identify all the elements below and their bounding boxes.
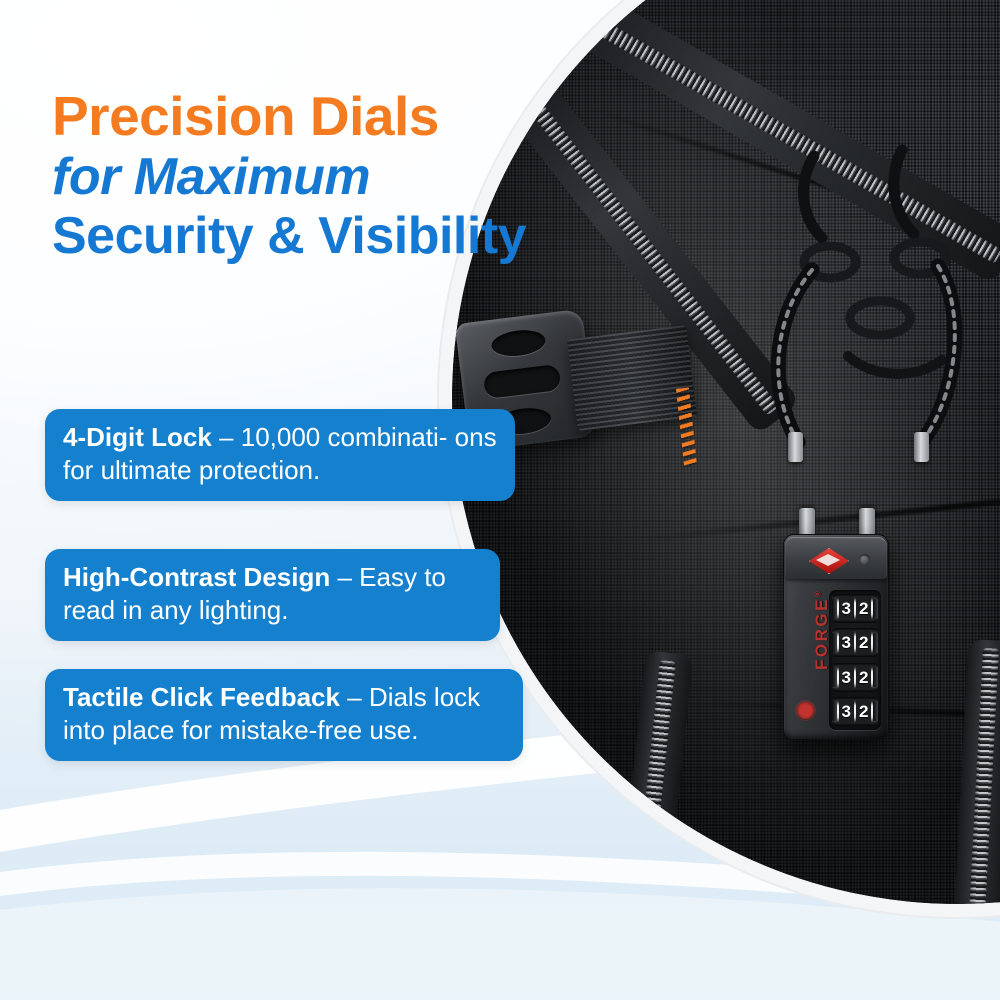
dial-edge-left xyxy=(832,667,837,687)
forge-gear-icon xyxy=(797,702,814,719)
combination-dials: 3 2 3 2 3 2 3 2 xyxy=(829,590,881,730)
dial-3-digit-right: 2 xyxy=(856,666,871,689)
dial-edge-left xyxy=(832,701,837,721)
dial-edge-right xyxy=(873,701,878,721)
dial-3[interactable]: 3 2 xyxy=(832,663,878,692)
tsa-padlock: FORGE® 3 2 3 2 3 2 3 xyxy=(783,534,889,740)
zipper-pulls-and-cable xyxy=(752,142,1000,472)
dial-1-digit-right: 2 xyxy=(856,597,871,620)
headline-line-2: for Maximum xyxy=(52,148,652,207)
promo-banner: FORGE® 3 2 3 2 3 2 3 xyxy=(0,0,1000,1000)
dial-2-digit-left: 3 xyxy=(839,631,854,654)
headline-line-1: Precision Dials xyxy=(52,86,652,148)
dial-4[interactable]: 3 2 xyxy=(832,697,878,726)
feature-2-title: High-Contrast Design xyxy=(63,562,330,592)
dial-2[interactable]: 3 2 xyxy=(832,628,878,657)
feature-2-body: Easy to xyxy=(359,562,446,592)
feature-3-title: Tactile Click Feedback xyxy=(63,682,340,712)
dial-4-digit-right: 2 xyxy=(856,700,871,723)
feature-2-dash: – xyxy=(337,562,351,592)
dial-edge-right xyxy=(873,633,878,653)
feature-pill-2: High-Contrast Design – Easy to read in a… xyxy=(45,549,500,641)
tsa-keyhole-icon xyxy=(859,554,870,565)
registered-mark: ® xyxy=(813,589,822,597)
dial-edge-right xyxy=(873,599,878,619)
headline-block: Precision Dials for Maximum Security & V… xyxy=(52,86,652,266)
cable-ferrule-left xyxy=(788,432,803,462)
feature-1-body: 10,000 combinati- xyxy=(241,422,448,452)
headline-line-3: Security & Visibility xyxy=(52,207,652,266)
dial-edge-left xyxy=(832,599,837,619)
feature-3-dash: – xyxy=(347,682,361,712)
dial-edge-right xyxy=(873,667,878,687)
feature-2-body2: read in any lighting. xyxy=(63,595,288,625)
feature-pill-1: 4-Digit Lock – 10,000 combinati- ons for… xyxy=(45,409,515,501)
dial-3-digit-left: 3 xyxy=(839,666,854,689)
strap-webbing xyxy=(567,325,697,431)
dial-1[interactable]: 3 2 xyxy=(832,594,878,623)
feature-3-body2: into place for mistake-free use. xyxy=(63,715,419,745)
dial-2-digit-right: 2 xyxy=(856,631,871,654)
cable-ferrule-right xyxy=(914,432,929,462)
dial-1-digit-left: 3 xyxy=(839,597,854,620)
feature-1-dash: – xyxy=(219,422,233,452)
dial-edge-left xyxy=(832,633,837,653)
feature-pill-3: Tactile Click Feedback – Dials lock into… xyxy=(45,669,523,761)
feature-1-title: 4-Digit Lock xyxy=(63,422,212,452)
dial-4-digit-left: 3 xyxy=(839,700,854,723)
feature-3-body: Dials lock xyxy=(369,682,480,712)
